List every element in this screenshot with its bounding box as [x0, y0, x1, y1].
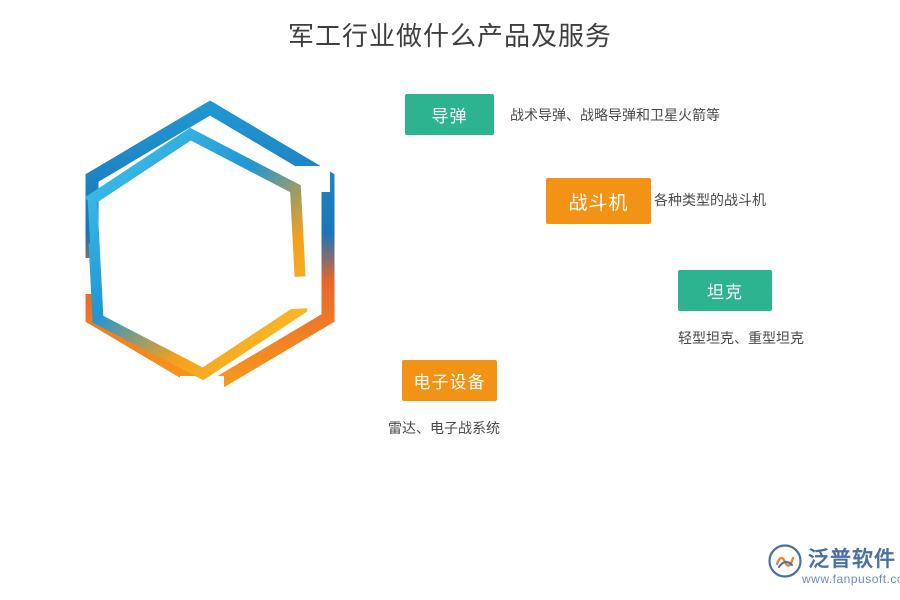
node-desc-missile: 战术导弹、战略导弹和卫星火箭等: [510, 105, 720, 125]
node-label-electronic-equipment[interactable]: 电子设备: [402, 360, 497, 401]
hexagon-ring-graphic: [60, 80, 360, 400]
brand-logo-icon: [768, 544, 802, 578]
brand-name: 泛普软件: [808, 543, 896, 573]
node-label-tank[interactable]: 坦克: [678, 270, 772, 311]
node-desc-electronic-equipment: 雷达、电子战系统: [388, 418, 500, 438]
node-label-fighter[interactable]: 战斗机: [546, 178, 651, 224]
node-desc-tank: 轻型坦克、重型坦克: [678, 328, 804, 348]
page-title: 军工行业做什么产品及服务: [0, 16, 900, 53]
node-desc-fighter: 各种类型的战斗机: [654, 190, 766, 210]
node-label-missile[interactable]: 导弹: [405, 94, 494, 135]
brand-url: www.fanpusoft.com: [802, 572, 900, 586]
infographic-canvas: 军工行业做什么产品及服务: [0, 0, 900, 600]
